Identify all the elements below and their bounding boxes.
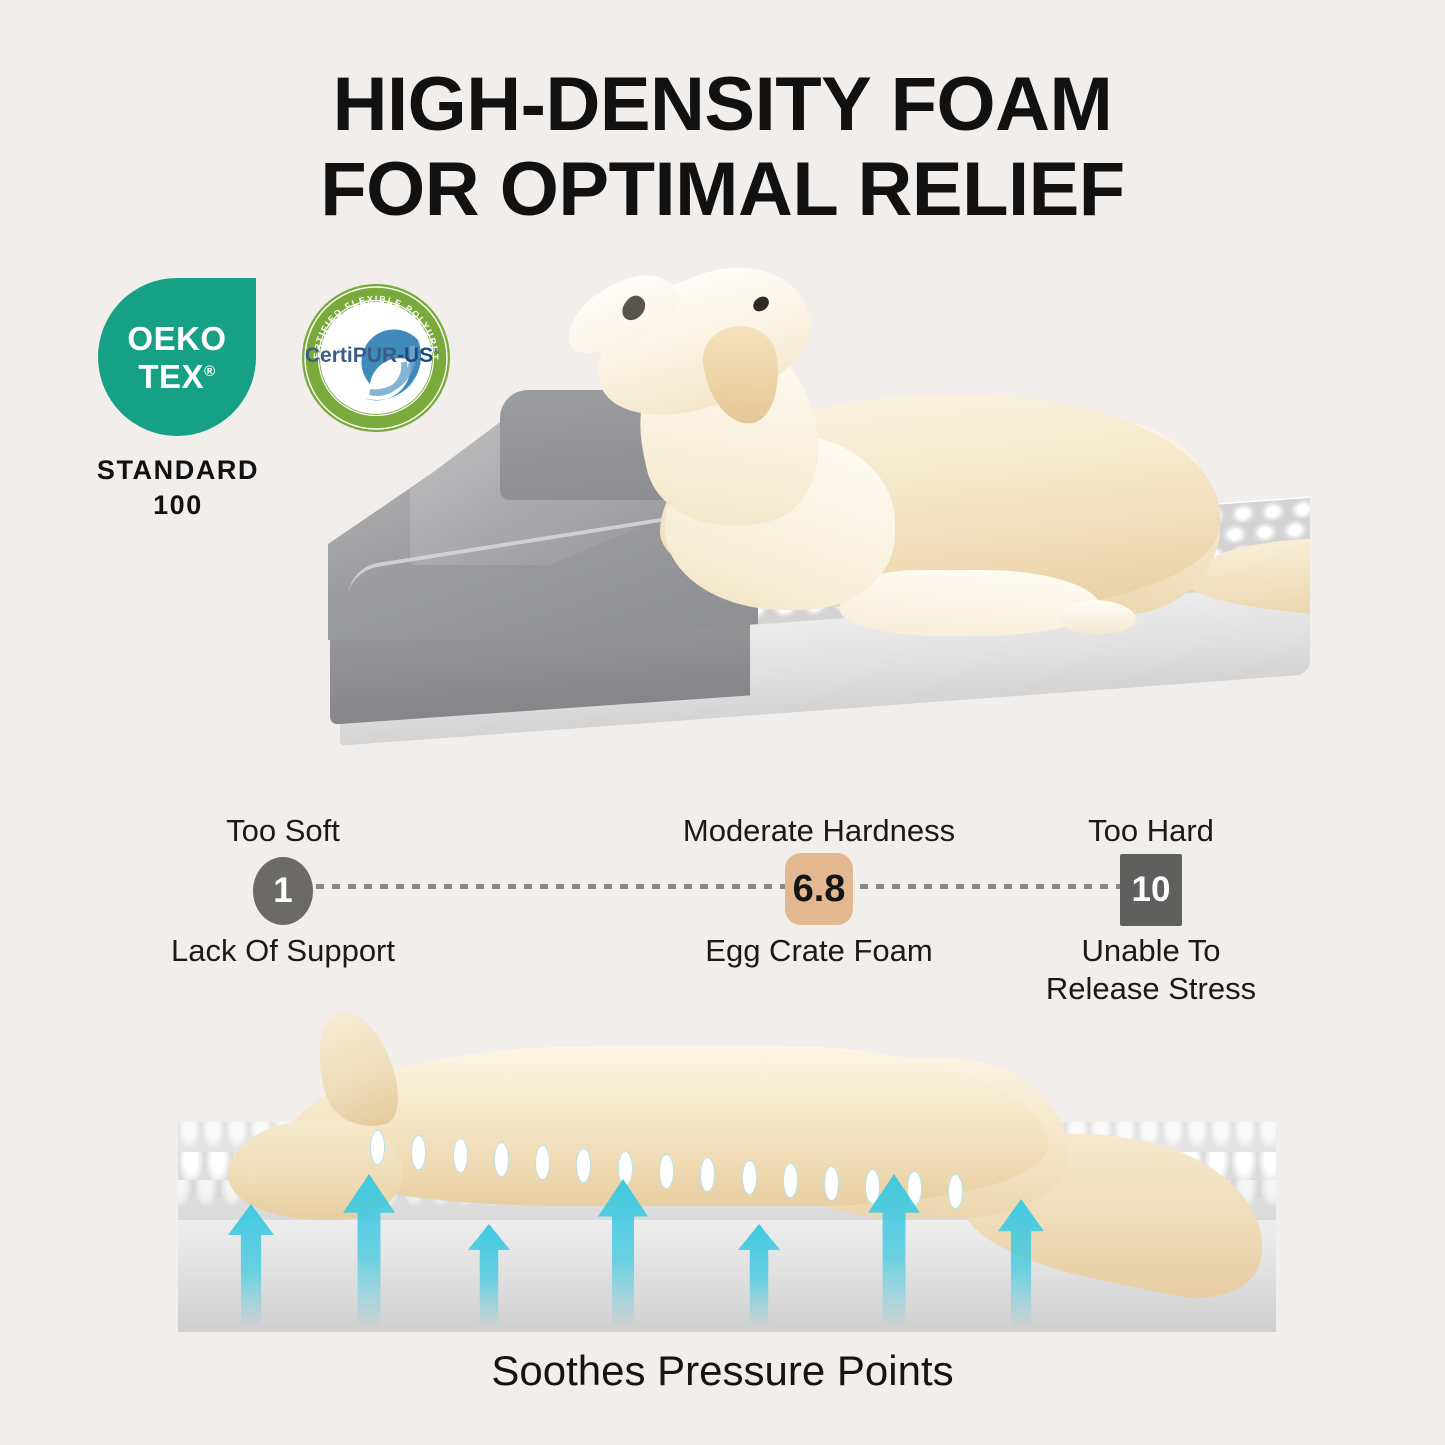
caption-text: Soothes Pressure Points: [0, 1347, 1445, 1395]
spine-marker: [824, 1166, 839, 1201]
spine-marker: [948, 1174, 963, 1209]
spine-marker: [370, 1130, 385, 1165]
page-title: HIGH-DENSITY FOAM FOR OPTIMAL RELIEF: [0, 62, 1445, 232]
oeko-tex-caption-line-2: 100: [78, 488, 278, 523]
oeko-tex-line-2: TEX®: [138, 360, 215, 393]
dog-nose: [618, 292, 650, 325]
scale-node-too-hard[interactable]: 10: [1120, 854, 1182, 926]
scale-bottom-label-1: Lack Of Support: [123, 932, 443, 970]
labrador-dog-illustration: [500, 270, 1290, 670]
scale-top-label-3: Too Hard: [1021, 812, 1281, 850]
oeko-tex-line-1: OEKO: [127, 322, 226, 355]
scale-top-label-1: Too Soft: [153, 812, 413, 850]
spine-marker: [453, 1138, 468, 1173]
dog-foreleg: [840, 570, 1100, 636]
pressure-arrow: [343, 1174, 395, 1324]
pressure-arrow: [868, 1174, 920, 1324]
registered-mark-icon: ®: [204, 363, 216, 380]
oeko-tex-caption-line-1: STANDARD: [78, 453, 278, 488]
spine-marker: [494, 1142, 509, 1177]
infographic-page: HIGH-DENSITY FOAM FOR OPTIMAL RELIEF OEK…: [0, 0, 1445, 1445]
scale-node-too-soft[interactable]: 1: [253, 857, 313, 925]
oeko-tex-badge: OEKO TEX®: [98, 278, 256, 436]
pressure-arrow: [738, 1224, 780, 1324]
pressure-arrow: [998, 1199, 1044, 1324]
headline-line-1: HIGH-DENSITY FOAM: [0, 62, 1445, 147]
dog-eye: [750, 294, 771, 315]
scale-bottom-label-3: Unable To Release Stress: [1021, 932, 1281, 1008]
headline-line-2: FOR OPTIMAL RELIEF: [0, 147, 1445, 232]
oeko-tex-caption: STANDARD 100: [78, 453, 278, 523]
pressure-arrow: [228, 1204, 274, 1324]
dog-bed-product-photo: [300, 250, 1310, 790]
spine-marker: [742, 1160, 757, 1195]
pressure-relief-illustration: [178, 1002, 1276, 1332]
hardness-scale-track: [300, 884, 1160, 889]
pressure-arrow: [468, 1224, 510, 1324]
pressure-arrow: [598, 1179, 648, 1324]
scale-top-label-2: Moderate Hardness: [659, 812, 979, 850]
scale-node-moderate[interactable]: 6.8: [785, 853, 853, 925]
spine-marker: [783, 1163, 798, 1198]
scale-bottom-label-2: Egg Crate Foam: [649, 932, 989, 970]
